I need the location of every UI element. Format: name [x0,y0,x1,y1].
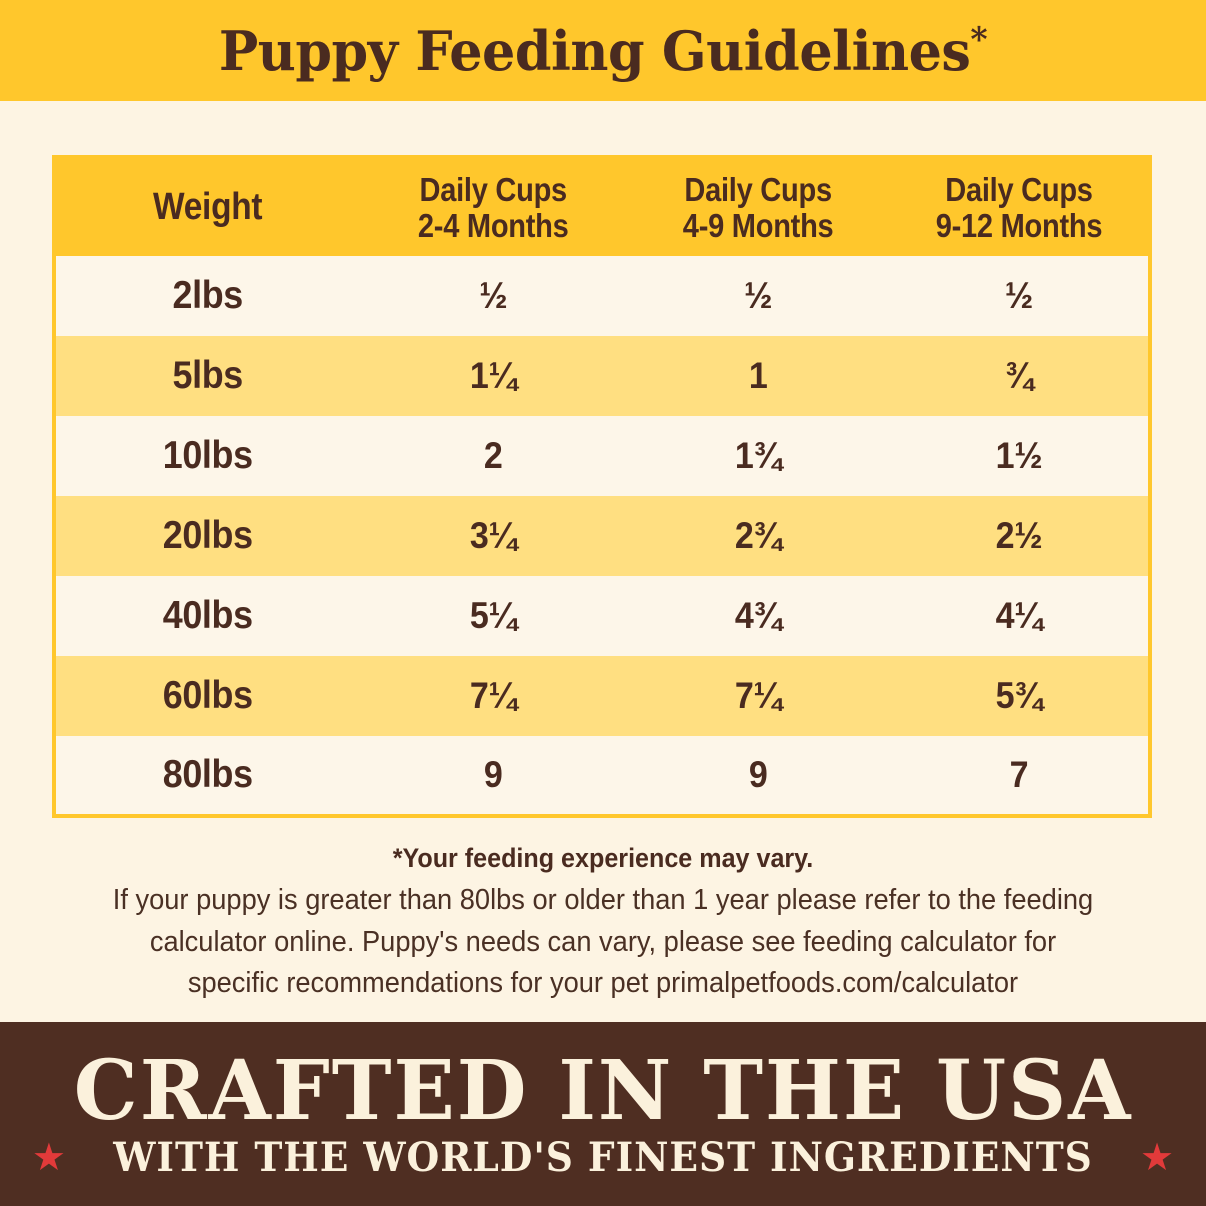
cell-weight: 2lbs [66,256,347,336]
table-header-row: Weight Daily Cups 2-4 Months Daily Cups … [54,157,1150,256]
table-row: 60lbs 7¼ 7¼ 5¾ [54,656,1150,736]
banner-headline: CRAFTED IN THE USA [74,1050,1133,1132]
column-header-cups-4-9-line1: Daily Cups [642,172,875,208]
table-row: 40lbs 5¼ 4¾ 4¼ [54,576,1150,656]
cell-weight: 40lbs [66,576,347,656]
table-body: 2lbs ½ ½ ½ 5lbs 1¼ 1 ¾ 10lbs 2 1¾ 1½ 20l… [54,256,1150,816]
footnote: *Your feeding experience may vary. If yo… [50,840,1156,1004]
cell-cups-4-9: 7¼ [637,656,880,736]
cell-cups-4-9: 1 [637,336,880,416]
footnote-line-1: If your puppy is greater than 80lbs or o… [83,880,1123,921]
cell-weight: 5lbs [66,336,347,416]
star-icon-left: ★ [32,1139,66,1177]
cell-cups-2-4: 9 [370,736,615,816]
page-title: Puppy Feeding Guidelines* [219,24,987,78]
cell-cups-2-4: 1¼ [370,336,615,416]
footnote-lead: *Your feeding experience may vary. [89,840,1118,876]
column-header-weight-line1: Weight [74,187,341,228]
column-header-cups-9-12-line1: Daily Cups [906,172,1133,208]
footnote-body: If your puppy is greater than 80lbs or o… [83,880,1123,1004]
cell-cups-9-12: 1½ [901,416,1140,496]
cell-weight: 60lbs [66,656,347,736]
cell-cups-9-12: 5¾ [901,656,1140,736]
cell-cups-4-9: 2¾ [637,496,880,576]
cell-cups-2-4: 3¼ [370,496,615,576]
feeding-table-container: Weight Daily Cups 2-4 Months Daily Cups … [52,155,1152,818]
footnote-line-3: specific recommendations for your pet pr… [83,963,1123,1004]
page-title-text: Puppy Feeding Guidelines [219,19,971,83]
cell-cups-4-9: 1¾ [637,416,880,496]
table-row: 20lbs 3¼ 2¾ 2½ [54,496,1150,576]
column-header-weight: Weight [72,157,341,256]
cell-cups-2-4: ½ [370,256,615,336]
cell-weight: 20lbs [66,496,347,576]
cell-cups-2-4: 5¼ [370,576,615,656]
column-header-cups-4-9-months: Daily Cups 4-9 Months [642,157,875,256]
cell-cups-4-9: 9 [637,736,880,816]
star-icon-right: ★ [1140,1139,1174,1177]
table-row: 10lbs 2 1¾ 1½ [54,416,1150,496]
table-row: 5lbs 1¼ 1 ¾ [54,336,1150,416]
banner-subline: WITH THE WORLD'S FINEST INGREDIENTS [113,1138,1092,1178]
cell-weight: 10lbs [66,416,347,496]
table-row: 2lbs ½ ½ ½ [54,256,1150,336]
column-header-cups-2-4-line2: 2-4 Months [376,208,610,244]
cell-cups-9-12: 2½ [901,496,1140,576]
crafted-in-usa-banner: CRAFTED IN THE USA ★ WITH THE WORLD'S FI… [0,1022,1206,1206]
cell-cups-9-12: ½ [901,256,1140,336]
column-header-cups-2-4-line1: Daily Cups [376,172,610,208]
cell-weight: 80lbs [66,736,347,816]
page-title-asterisk: * [970,20,987,60]
column-header-cups-2-4-months: Daily Cups 2-4 Months [376,157,610,256]
feeding-guidelines-table: Weight Daily Cups 2-4 Months Daily Cups … [52,155,1152,818]
cell-cups-4-9: ½ [637,256,880,336]
column-header-cups-9-12-months: Daily Cups 9-12 Months [906,157,1135,256]
footnote-line-2: calculator online. Puppy's needs can var… [83,922,1123,963]
cell-cups-9-12: ¾ [901,336,1140,416]
cell-cups-2-4: 2 [370,416,615,496]
cell-cups-9-12: 4¼ [901,576,1140,656]
cell-cups-9-12: 7 [901,736,1140,816]
column-header-cups-9-12-line2: 9-12 Months [906,208,1133,244]
cell-cups-2-4: 7¼ [370,656,615,736]
table-row: 80lbs 9 9 7 [54,736,1150,816]
column-header-cups-4-9-line2: 4-9 Months [642,208,875,244]
page-header-bar: Puppy Feeding Guidelines* [0,0,1206,101]
banner-subline-row: ★ WITH THE WORLD'S FINEST INGREDIENTS ★ [32,1138,1174,1178]
table-header: Weight Daily Cups 2-4 Months Daily Cups … [54,157,1150,256]
cell-cups-4-9: 4¾ [637,576,880,656]
